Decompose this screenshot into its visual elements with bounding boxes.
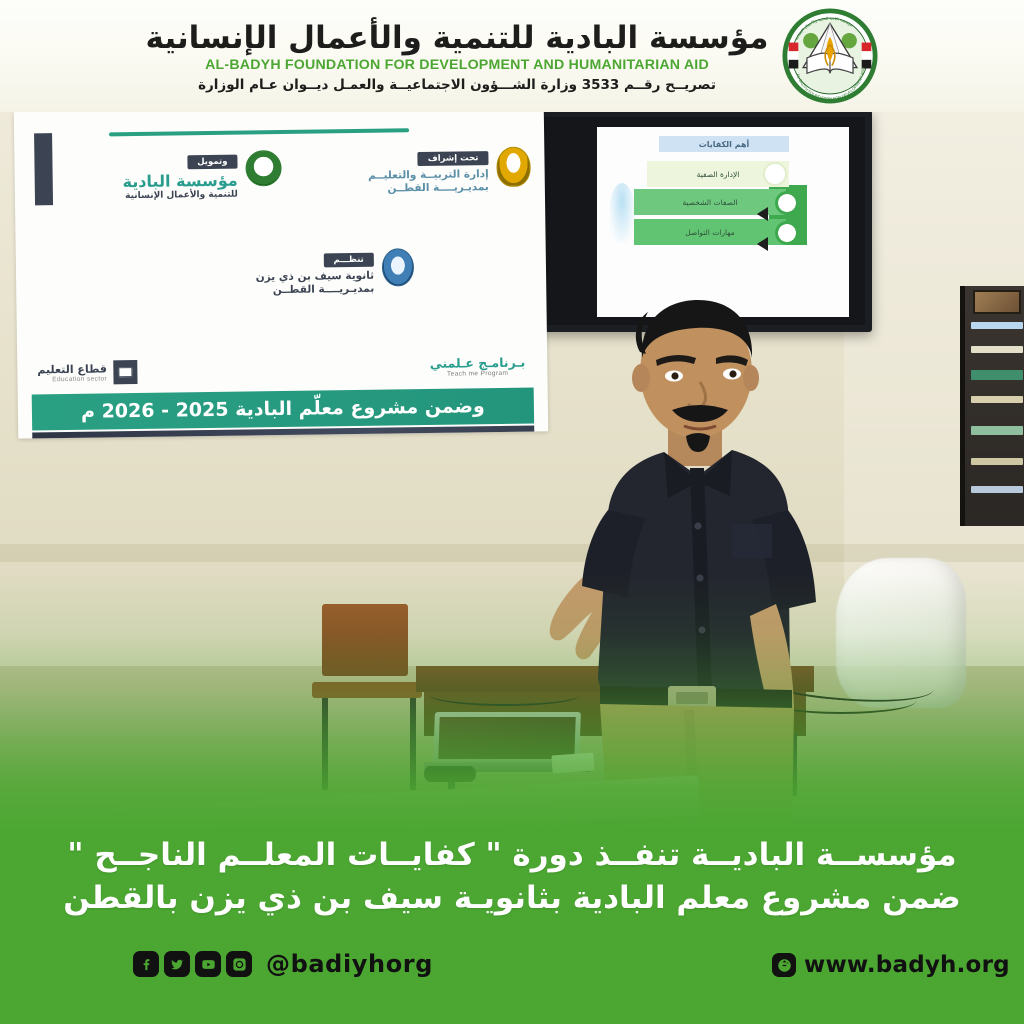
slide-row-label: الصفات الشخصية [682, 198, 737, 207]
social-links[interactable]: @badiyhorg [133, 950, 433, 978]
banner-supervision-line2: بمديـريــــة القطــن [368, 181, 489, 196]
youtube-icon[interactable] [195, 951, 221, 977]
post-header: مؤسسة البادية للتنمية والأعمال الإنسانية… [0, 0, 1024, 112]
banner-supervision-chip: تحت إشراف [418, 151, 489, 166]
globe-icon [772, 953, 796, 977]
foundation-mini-logo-icon [245, 150, 281, 186]
book [971, 426, 1023, 435]
header-text-block: مؤسسة البادية للتنمية والأعمال الإنسانية… [146, 19, 769, 93]
event-photograph: أهم الكفايات الإدارة الصفية الصفات الشخص… [0, 106, 1024, 830]
banner-funding-chip: وتمويل [187, 155, 237, 170]
slide-row-label: الإدارة الصفية [697, 170, 740, 179]
banner-organizer-line2: بمديـريــــة القطــن [256, 283, 374, 298]
banner-organizer-chip: تنظـــم [323, 253, 374, 268]
instagram-icon[interactable] [226, 951, 252, 977]
school-logo-icon [382, 248, 415, 286]
slide-badge [775, 191, 799, 215]
banner-funding-block: وتمويل مؤسسة البادية للتنمية والأعمال ال… [66, 150, 282, 202]
book [971, 346, 1023, 353]
website-link[interactable]: www.badyh.org [772, 952, 1010, 978]
license-line: تصريــح رقــم 3533 وزارة الشـــؤون الاجت… [146, 77, 769, 93]
education-sector-label-ar: قطاع التعليم [37, 362, 107, 376]
slide-arrow-icon [757, 207, 768, 221]
book [971, 458, 1023, 465]
twitter-icon[interactable] [164, 951, 190, 977]
post-caption: مؤسســة الباديــة تنفــذ دورة " كفايــات… [0, 826, 1024, 944]
ministry-logo-icon [496, 147, 531, 187]
banner-funding-org-sub: للتنمية والأعمال الإنسانية [123, 189, 238, 201]
slide-row-label: مهارات التواصل [685, 228, 735, 237]
slide-arrow-icon [757, 237, 768, 251]
book [971, 396, 1023, 403]
organization-name-arabic: مؤسسة البادية للتنمية والأعمال الإنسانية [146, 23, 769, 55]
social-media-post: أهم الكفايات الإدارة الصفية الصفات الشخص… [0, 0, 1024, 1024]
slide-badge [763, 162, 787, 186]
organization-name-english: AL-BADYH FOUNDATION FOR DEVELOPMENT AND … [146, 57, 769, 73]
facebook-icon[interactable] [133, 951, 159, 977]
caption-line-2: ضمن مشروع معلم البادية بثانويـة سيف بن ذ… [0, 877, 1024, 920]
slide-title-bar: أهم الكفايات [659, 136, 789, 152]
slide-title-text: أهم الكفايات [699, 140, 750, 149]
banner-side-bar [34, 133, 53, 205]
chair-leg [410, 698, 416, 790]
book [971, 486, 1023, 493]
slide-badge [775, 221, 799, 245]
banner-funding-org: مؤسسة البادية [122, 172, 237, 191]
book [971, 322, 1023, 329]
foundation-emblem-icon: AL-BADYH FOUNDATION FOR DEVELOPMENT AND … [782, 8, 878, 104]
banner-top-rule [109, 128, 409, 136]
banner-project-text: وضمن مشروع معلّم البادية 2025 - 2026 م [81, 395, 485, 423]
banner-education-sector-block: قطاع التعليم Education sector [37, 360, 137, 385]
presenter-person [432, 286, 892, 830]
slide-figure-graphic [609, 183, 635, 243]
banner-supervision-block: تحت إشراف إدارة التربيــة والتعليــم بمد… [340, 147, 531, 197]
book-icon [113, 360, 137, 384]
website-url-text: www.badyh.org [804, 952, 1010, 978]
bookshelf [960, 286, 1024, 526]
banner-organizer-block: تنظـــم ثانوية سيف بن ذي يزن بمديـريــــ… [184, 248, 415, 298]
wooden-chair-back [322, 604, 408, 676]
caption-line-1: مؤسســة الباديــة تنفــذ دورة " كفايــات… [0, 834, 1024, 877]
post-footer: @badiyhorg www.badyh.org [0, 940, 1024, 1024]
education-sector-label-en: Education sector [37, 375, 107, 383]
book [971, 370, 1023, 380]
framed-picture [973, 290, 1021, 314]
social-handle-text: @badiyhorg [266, 950, 433, 978]
chair-leg [322, 698, 328, 790]
wooden-chair-seat [312, 682, 422, 698]
